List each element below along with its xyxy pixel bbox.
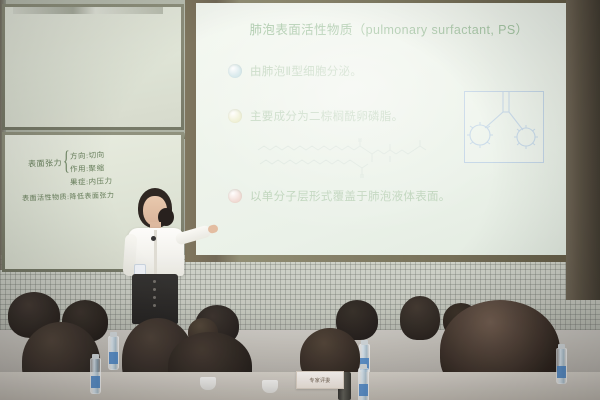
audience-head: [400, 296, 440, 340]
whiteboard-upper-panel: [5, 7, 181, 127]
handwriting-line-1: 方向:切向: [70, 149, 105, 162]
right-wall-column: [566, 0, 600, 300]
bottle-label: [109, 352, 118, 364]
projection-screen: 肺泡表面活性物质（pulmonary surfactant, PS） 由肺泡Ⅱ型…: [196, 3, 568, 255]
bottle-label: [557, 366, 566, 378]
bullet-sphere-yellow: [228, 109, 242, 123]
name-card-text: 专家评委: [309, 377, 330, 384]
handwriting-line-3: 果症:内压力: [70, 175, 113, 187]
paper-cup: [200, 377, 216, 390]
paper-cup: [262, 380, 278, 393]
slide-bullet-2-text: 主要成分为二棕榈酰卵磷脂。: [250, 108, 403, 124]
slide-title: 肺泡表面活性物质（pulmonary surfactant, PS）: [224, 19, 554, 38]
slide-bullet-1: 由肺泡Ⅱ型细胞分泌。: [228, 63, 362, 79]
skirt-button: [153, 296, 156, 299]
bottle-cap: [110, 332, 117, 337]
skirt-button: [153, 288, 156, 291]
water-bottle: [358, 368, 369, 400]
bullet-sphere-pink: [228, 189, 242, 203]
slide-bullet-3-text: 以单分子层形式覆盖于肺泡液体表面。: [250, 188, 451, 204]
presenter-microphone: [151, 236, 156, 241]
water-bottle: [556, 348, 567, 384]
name-card: 专家评委: [296, 371, 344, 389]
bottle-cap: [360, 364, 367, 369]
slide-bullet-3: 以单分子层形式覆盖于肺泡液体表面。: [228, 188, 451, 204]
bullet-sphere-blue: [228, 64, 242, 78]
bottle-label: [91, 376, 100, 388]
whiteboard-top-strip: [13, 7, 163, 14]
handwriting-line-2: 作用:聚缩: [70, 162, 105, 174]
handwriting-heading: 表面张力: [28, 157, 62, 169]
alveoli-bronchiole-diagram: [464, 91, 544, 163]
alveoli-diagram-svg: [465, 92, 543, 162]
bottle-cap: [558, 344, 565, 349]
bottle-cap: [92, 354, 99, 359]
lecture-hall-photo: 表面张力 { 方向:切向 作用:聚缩 果症:内压力 表面活性物质:降低表面张力 …: [0, 0, 600, 400]
slide-bullet-1-text: 由肺泡Ⅱ型细胞分泌。: [250, 63, 362, 79]
skirt-button: [153, 280, 156, 283]
presenter: [110, 188, 206, 323]
skirt-button: [153, 304, 156, 307]
bottle-label: [359, 384, 368, 396]
water-bottle: [90, 358, 101, 394]
slide-bullet-2: 主要成分为二棕榈酰卵磷脂。: [228, 108, 403, 124]
dppc-structure: [256, 136, 446, 180]
water-bottle: [108, 336, 119, 370]
bottle-cap: [361, 340, 368, 345]
